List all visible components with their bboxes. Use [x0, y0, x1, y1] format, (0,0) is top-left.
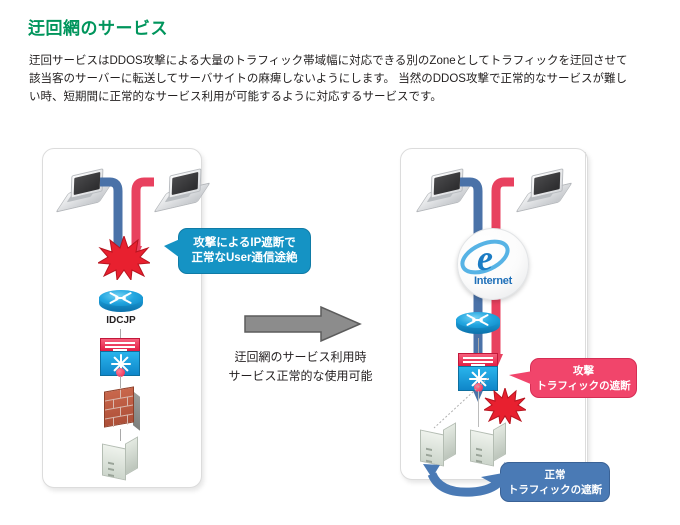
right-arrow-icon — [243, 305, 363, 345]
page-title: 迂回網のサービス — [28, 14, 168, 39]
callout-line-1: 攻撃によるIP遮断で — [179, 236, 310, 251]
internet-label: Internet — [458, 275, 528, 287]
callout-line-2: トラフィックの遮断 — [501, 483, 609, 498]
server-side-face — [125, 436, 138, 476]
firewall-side — [133, 391, 140, 430]
description-paragraph: 迂回サービスはDDOS攻撃による大量のトラフィック帯域幅に対応できる別のZone… — [29, 52, 649, 106]
svg-text:e: e — [477, 238, 493, 277]
firewall-brick-icon — [100, 387, 140, 429]
router-icon — [99, 288, 143, 318]
switch-top-face — [100, 338, 140, 352]
callout-tail — [481, 473, 503, 489]
center-caption: 迂回網のサービス利用時 サービス正常的な使用可能 — [218, 348, 383, 386]
link-line — [478, 338, 479, 354]
l3-switch-icon — [100, 338, 140, 376]
router-arrow-glyphs — [465, 314, 491, 326]
callout-line-1: 正常 — [501, 468, 609, 483]
switch-top-face — [458, 353, 498, 367]
description-line-3: い時、短期間に正常的なサービス利用が可能するように対応するサービスです。 — [29, 88, 649, 106]
internet-explorer-icon: e Internet — [457, 228, 529, 300]
callout-attack-traffic-block: 攻撃 トラフィックの遮断 — [530, 358, 637, 398]
description-line-2: 該当客のサーバーに転送してサーバサイトの麻痺しないようにします。 当然のDDOS… — [29, 70, 649, 88]
firewall-wall — [104, 386, 134, 427]
device-label-idcjp: IDCJP — [83, 315, 159, 326]
callout-line-1: 攻撃 — [531, 364, 636, 379]
vertical-divider — [585, 152, 586, 482]
callout-line-2: トラフィックの遮断 — [531, 379, 636, 394]
description-line-1: 迂回サービスはDDOS攻撃による大量のトラフィック帯域幅に対応できる別のZone… — [29, 52, 649, 70]
explosion-burst-icon — [484, 388, 526, 424]
link-line — [478, 391, 479, 427]
switch-front-face — [100, 351, 140, 376]
slide-canvas: 迂回網のサービス 迂回サービスはDDOS攻撃による大量のトラフィック帯域幅に対応… — [0, 0, 680, 525]
router-icon — [456, 310, 500, 340]
callout-normal-traffic-block: 正常 トラフィックの遮断 — [500, 462, 610, 502]
router-arrow-glyphs — [108, 292, 134, 304]
center-caption-line-1: 迂回網のサービス利用時 — [218, 348, 383, 367]
callout-line-2: 正常なUser通信途絶 — [179, 251, 310, 266]
explosion-burst-icon — [98, 236, 150, 280]
ie-e-glyph: e — [458, 237, 528, 277]
callout-tail — [509, 371, 533, 385]
server-icon — [100, 438, 140, 482]
callout-tail — [164, 239, 180, 258]
center-caption-line-2: サービス正常的な使用可能 — [218, 367, 383, 386]
callout-attack-ip-block: 攻撃によるIP遮断で 正常なUser通信途絶 — [178, 228, 311, 274]
server-front-face — [102, 443, 126, 480]
